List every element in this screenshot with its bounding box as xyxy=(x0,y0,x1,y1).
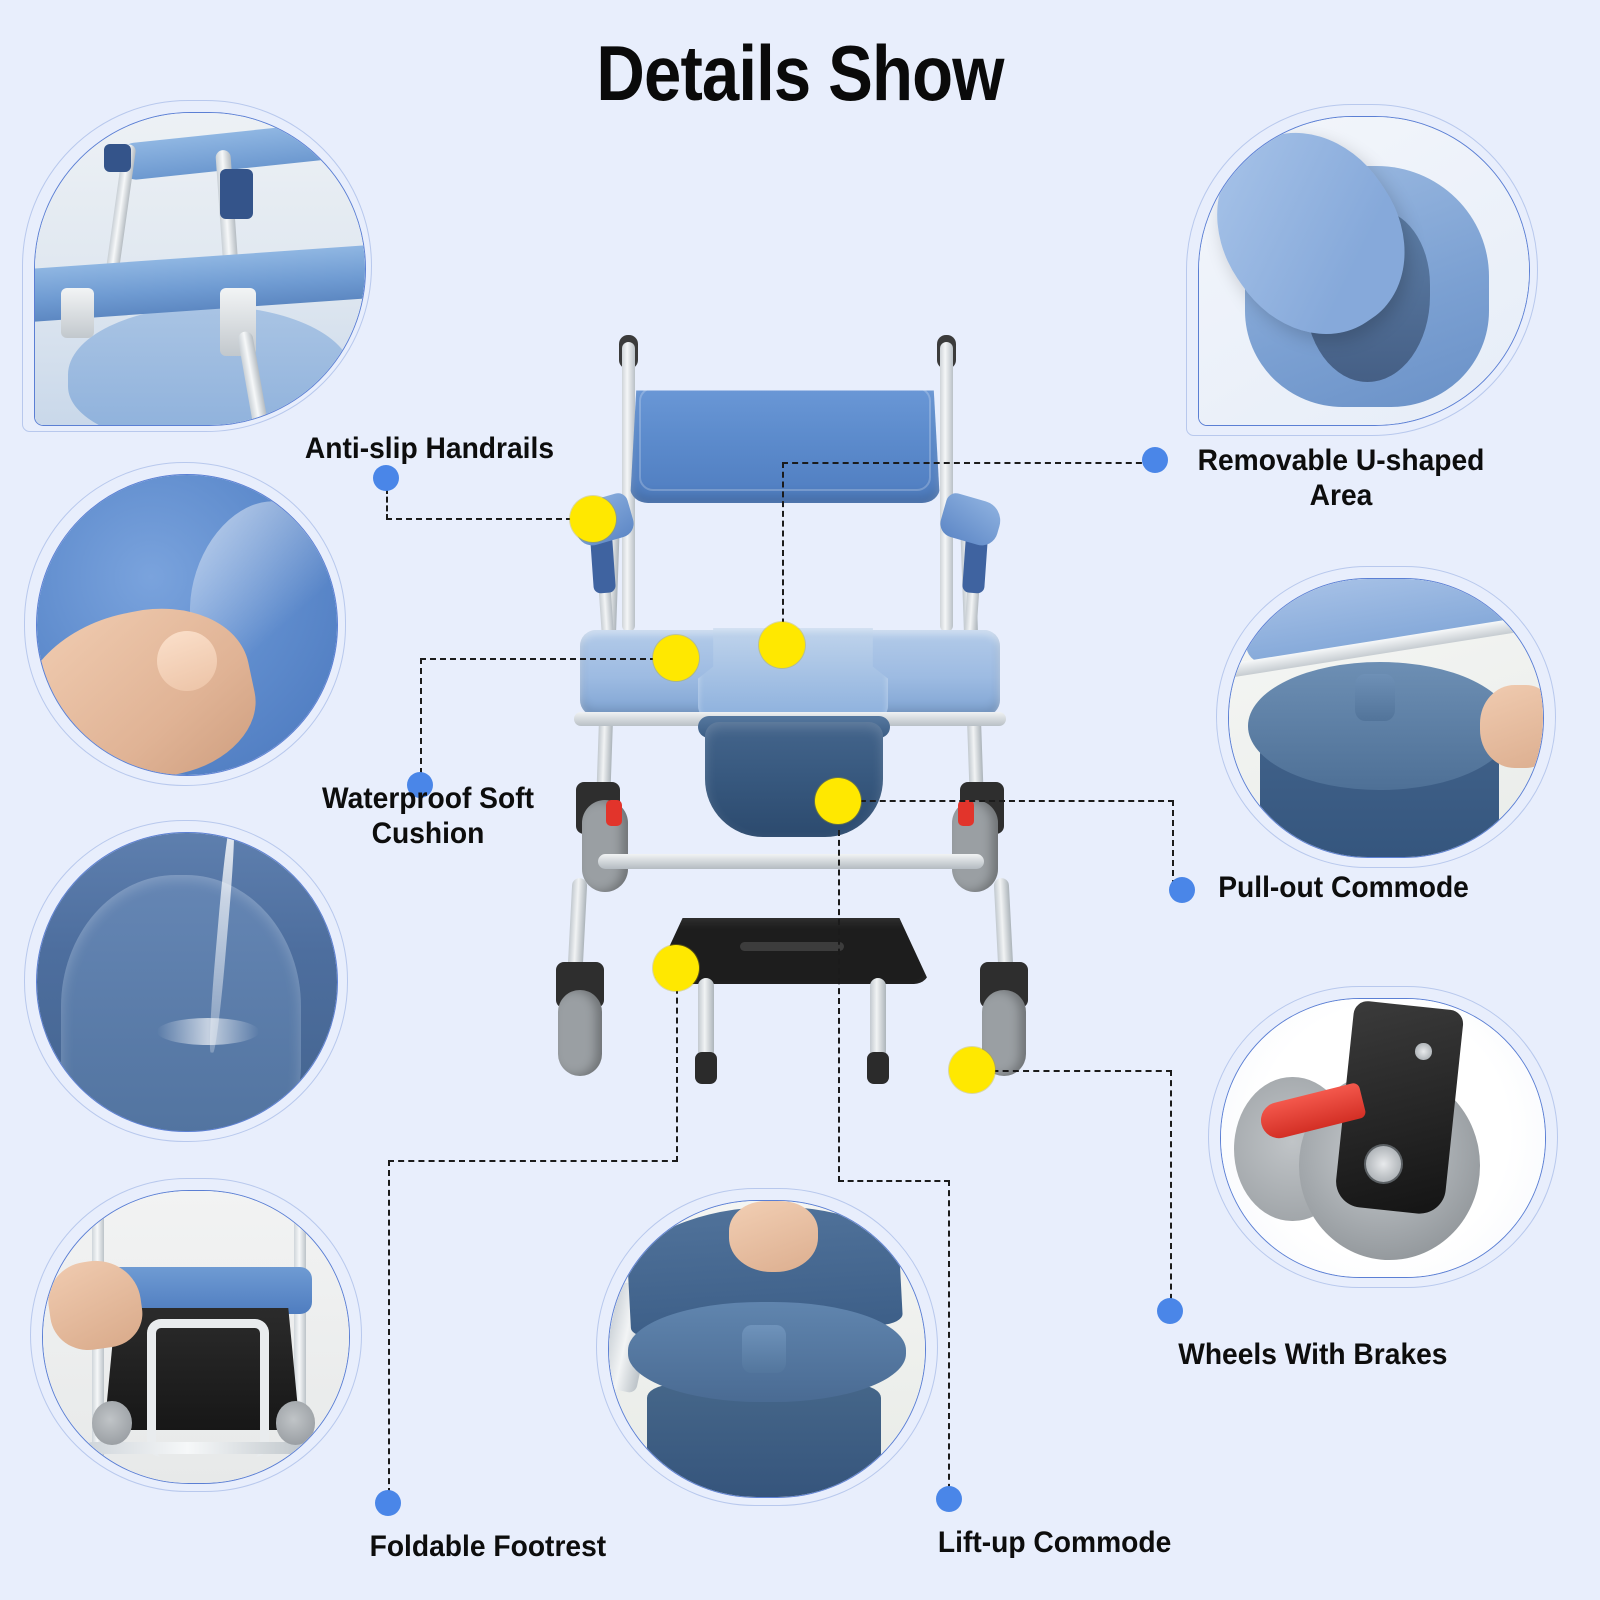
connector-cushion-h xyxy=(420,658,676,660)
marker-pull-out-commode[interactable] xyxy=(815,778,861,824)
marker-foldable-footrest[interactable] xyxy=(653,945,699,991)
connector-footrest-v1 xyxy=(676,968,678,1162)
connector-wheels-h xyxy=(972,1070,1172,1072)
product-commode-bucket xyxy=(705,722,883,837)
connector-footrest-h xyxy=(388,1160,678,1162)
photo-water-on-cushion xyxy=(36,832,338,1132)
connector-footrest-v2 xyxy=(388,1160,390,1504)
connector-liftup-v1 xyxy=(838,830,840,1182)
photo-lift-commode-art xyxy=(609,1201,925,1497)
infographic-canvas: Details Show xyxy=(0,0,1600,1600)
connector-liftup-h xyxy=(838,1180,950,1182)
connector-pullout-h xyxy=(840,800,1174,802)
bullet-anti-slip-handrails xyxy=(373,465,399,491)
marker-removable-u-shaped-area[interactable] xyxy=(759,622,805,668)
product-backrest xyxy=(630,378,940,503)
label-removable-u-shaped-area: Removable U-shaped Area xyxy=(1186,444,1496,514)
bullet-lift-up-commode xyxy=(936,1486,962,1512)
bullet-foldable-footrest xyxy=(375,1490,401,1516)
connector-ushape-v xyxy=(782,462,784,644)
label-lift-up-commode: Lift-up Commode xyxy=(938,1526,1248,1561)
connector-ushape-h xyxy=(782,462,1152,464)
connector-liftup-v2 xyxy=(948,1180,950,1500)
photo-foldable-footrest-art xyxy=(43,1191,349,1483)
photo-cushion-press-art xyxy=(37,475,337,775)
photo-handrail xyxy=(34,112,366,426)
photo-water-art xyxy=(37,833,337,1131)
photo-u-shaped-art xyxy=(1199,117,1529,425)
photo-caster-brake-art xyxy=(1221,999,1545,1277)
photo-handrail-art xyxy=(35,113,365,425)
label-anti-slip-handrails: Anti-slip Handrails xyxy=(305,432,615,467)
label-wheels-with-brakes: Wheels With Brakes xyxy=(1178,1338,1498,1373)
connector-pullout-v xyxy=(1172,800,1174,886)
photo-u-shaped-seat xyxy=(1198,116,1530,426)
connector-wheels-v xyxy=(1170,1070,1172,1310)
marker-waterproof-soft-cushion[interactable] xyxy=(653,635,699,681)
photo-caster-brake xyxy=(1220,998,1546,1278)
connector-cushion-v xyxy=(420,658,422,784)
label-foldable-footrest: Foldable Footrest xyxy=(370,1530,671,1565)
photo-cushion-press xyxy=(36,474,338,776)
marker-wheels-with-brakes[interactable] xyxy=(949,1047,995,1093)
photo-pull-out-art xyxy=(1229,579,1543,857)
bullet-pull-out-commode xyxy=(1169,877,1195,903)
bullet-removable-u-shaped-area xyxy=(1142,447,1168,473)
connector-handrail-h xyxy=(386,518,572,520)
photo-lift-commode xyxy=(608,1200,926,1498)
marker-anti-slip-handrails[interactable] xyxy=(570,496,616,542)
page-title: Details Show xyxy=(112,28,1488,119)
bullet-wheels-with-brakes xyxy=(1157,1298,1183,1324)
photo-pull-out-bucket xyxy=(1228,578,1544,858)
photo-foldable-footrest xyxy=(42,1190,350,1484)
label-waterproof-soft-cushion: Waterproof Soft Cushion xyxy=(287,782,569,852)
connector-handrail-v xyxy=(386,488,388,520)
label-pull-out-commode: Pull-out Commode xyxy=(1218,871,1538,906)
